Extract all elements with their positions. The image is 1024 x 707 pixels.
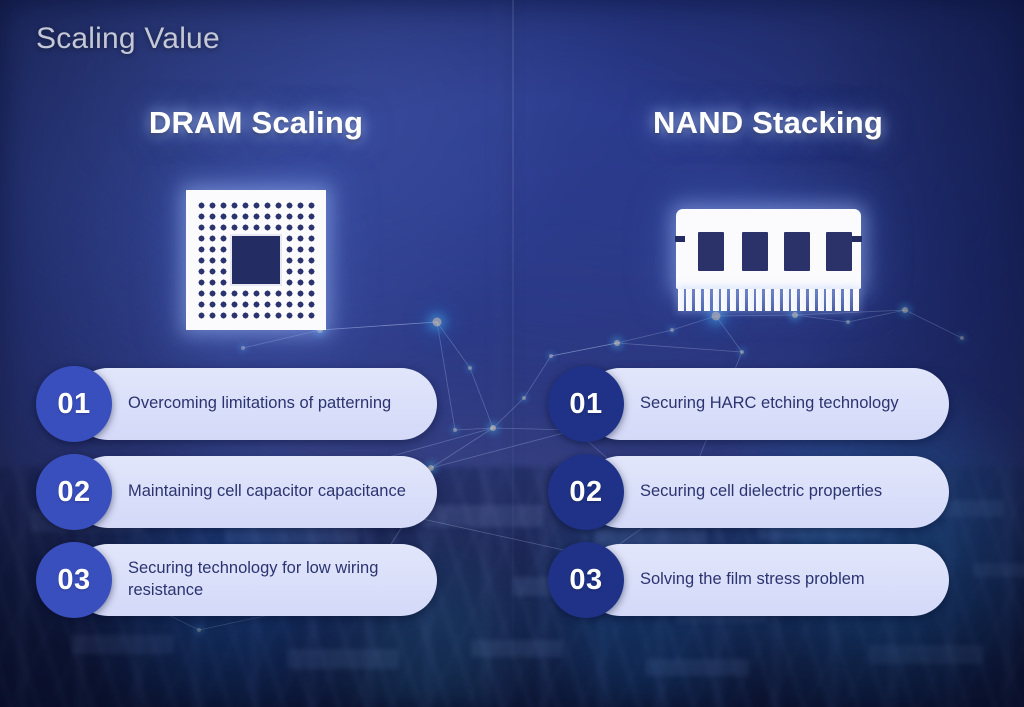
list-item[interactable]: 03 Solving the film stress problem (584, 544, 949, 616)
list-item[interactable]: 01 Overcoming limitations of patterning (72, 368, 437, 440)
module-notch-right (852, 236, 862, 242)
status-badge: 03 (548, 542, 624, 618)
column-heading-dram: DRAM Scaling (0, 105, 512, 141)
module-notch-left (675, 236, 685, 242)
memory-module-icon-wrap (512, 190, 1024, 330)
list-item-label: Securing cell dielectric properties (640, 481, 882, 503)
list-item[interactable]: 03 Securing technology for low wiring re… (72, 544, 437, 616)
column-dram: DRAM Scaling 01 Overcoming limitations o… (0, 0, 512, 707)
nand-card-list: 01 Securing HARC etching technology 02 S… (512, 368, 1024, 632)
module-chip (826, 232, 852, 271)
dram-chip-icon-wrap (0, 190, 512, 330)
list-item[interactable]: 01 Securing HARC etching technology (584, 368, 949, 440)
list-item-label: Solving the film stress problem (640, 569, 865, 591)
module-pcb (676, 209, 861, 289)
list-item-label: Maintaining cell capacitor capacitance (128, 481, 406, 503)
dram-card-list: 01 Overcoming limitations of patterning … (0, 368, 512, 632)
column-nand: NAND Stacking 01 Securing HARC etching t… (512, 0, 1024, 707)
module-chip (742, 232, 768, 271)
list-item[interactable]: 02 Securing cell dielectric properties (584, 456, 949, 528)
list-item[interactable]: 02 Maintaining cell capacitor capacitanc… (72, 456, 437, 528)
list-item-label: Overcoming limitations of patterning (128, 393, 391, 415)
column-heading-nand: NAND Stacking (512, 105, 1024, 141)
dram-chip-icon (186, 190, 326, 330)
status-badge: 01 (548, 366, 624, 442)
status-badge: 02 (36, 454, 112, 530)
status-badge: 02 (548, 454, 624, 530)
module-contact-pins (678, 289, 859, 311)
module-chip (784, 232, 810, 271)
module-chip (698, 232, 724, 271)
chip-die-center (230, 234, 282, 286)
list-item-label: Securing HARC etching technology (640, 393, 899, 415)
status-badge: 03 (36, 542, 112, 618)
list-item-label: Securing technology for low wiring resis… (128, 558, 421, 602)
status-badge: 01 (36, 366, 112, 442)
memory-module-icon (676, 209, 861, 311)
